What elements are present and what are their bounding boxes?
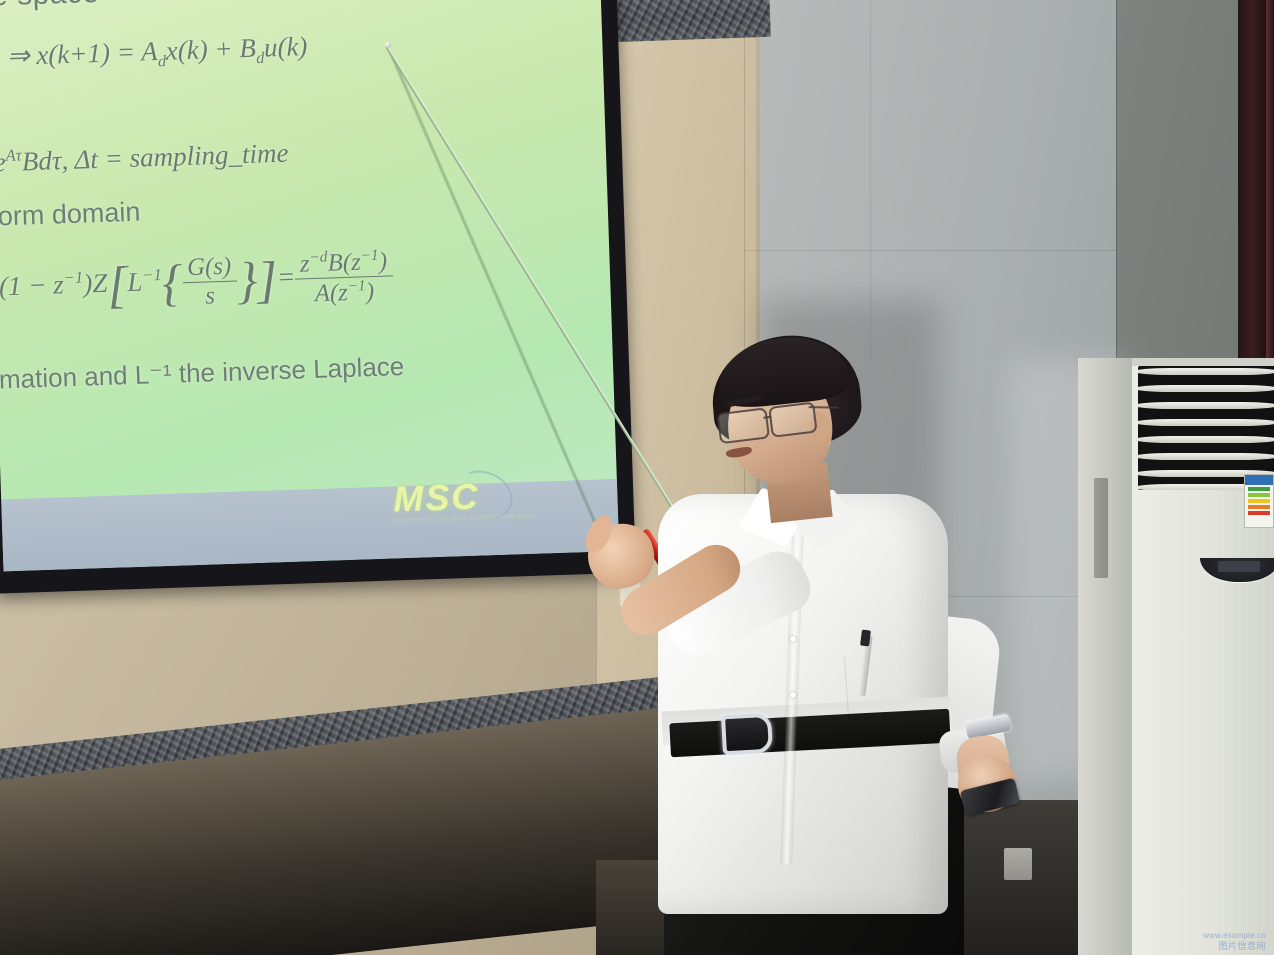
b-poly: B(z (327, 249, 361, 277)
brace-open: { (161, 255, 183, 313)
pointer-tip (385, 42, 391, 48)
a-poly: A(z (314, 279, 348, 307)
presenter (640, 336, 1090, 955)
fraction-numerator: G(s) (182, 253, 237, 284)
eq3-equals: = (277, 262, 296, 293)
shirt-button (790, 692, 796, 698)
fraction-denominator: s (183, 282, 238, 312)
ac-louver-grille (1138, 366, 1274, 490)
ac-display-screen (1218, 561, 1260, 572)
eq1-lhs: x + Bu (0, 41, 1, 73)
shirt-pocket (844, 651, 923, 719)
slide-equation-1: x + Bu ⇒ x(k+1) = Adx(k) + Bdu(k) (0, 31, 308, 79)
slide-equation-3: z−1) = (1 − z−1)Z[L−1{G(s)s}]=z−dB(z−1)A… (0, 246, 394, 321)
eq3-lhs3: )Z (83, 268, 108, 299)
z-exponent: −d (309, 249, 328, 267)
pen-cap (860, 630, 871, 647)
transfer-function-fraction: G(s)s (182, 253, 238, 312)
eq3-lhs2-sup: −1 (63, 268, 83, 288)
eq3-L: L (127, 267, 143, 297)
air-conditioner (1078, 358, 1274, 955)
watermark-chinese-text: 图片信息网 (1203, 941, 1266, 951)
projection-screen-surface: ...ate space x + Bu ⇒ x(k+1) = Adx(k) + … (0, 0, 619, 571)
eq1-arrow: ⇒ (6, 40, 30, 71)
energy-label-bar (1248, 511, 1270, 515)
b-poly-exp: −1 (360, 247, 379, 265)
eq3-lhs2: ) = (1 − z (0, 269, 64, 302)
belt-buckle (721, 713, 773, 756)
ac-louver (1138, 453, 1274, 460)
energy-label-bar (1248, 493, 1270, 497)
ac-louver (1138, 436, 1274, 443)
slide-subheading: ransform domain (0, 197, 141, 235)
energy-label-bar (1248, 499, 1270, 503)
energy-label-header (1245, 475, 1273, 485)
eq1-rhs-tail: u(k) (263, 31, 307, 62)
tile-seam-horizontal (744, 250, 1116, 251)
ac-louver (1138, 385, 1274, 392)
z-fraction-numerator: z−dB(z−1) (294, 246, 392, 279)
shirt-button (790, 636, 796, 642)
z-transfer-fraction: z−dB(z−1)A(z−1) (294, 246, 393, 309)
ac-side-vent (1094, 478, 1108, 578)
brace-close: } (236, 252, 258, 310)
watermark: www.example.cn 图片信息网 (1203, 931, 1266, 951)
msc-logo: MSC mechanical systems control laborator… (393, 474, 536, 525)
bracket-open: [ (107, 256, 129, 314)
slide-equation-2: = Δt ∫0 eAτBdτ, Δt = sampling_time (0, 128, 290, 202)
eq2-after: Bdτ, Δt = sampling_time (21, 138, 289, 177)
door-frame-edge (1266, 0, 1274, 372)
ac-louver (1138, 402, 1274, 409)
a-poly-exp: −1 (347, 278, 366, 296)
energy-label-bar (1248, 487, 1270, 491)
slide-footnote: nsformation and L⁻¹ the inverse Laplace (0, 351, 405, 397)
lecture-photo-scene: ...ate space x + Bu ⇒ x(k+1) = Adx(k) + … (0, 0, 1274, 955)
eq2-exponent: Aτ (5, 145, 22, 165)
eyeglass-lens-left (717, 407, 770, 444)
eq3-L-sup: −1 (142, 265, 162, 285)
ac-energy-label (1244, 474, 1274, 528)
ac-louver (1138, 419, 1274, 426)
ac-louver (1138, 368, 1274, 375)
bracket-close: ] (256, 251, 278, 309)
z-fraction-denominator: A(z−1) (295, 277, 393, 309)
watermark-url: www.example.cn (1203, 931, 1266, 940)
eq1-rhs-head: x(k+1) = A (36, 36, 158, 70)
b-poly-close: ) (378, 248, 387, 275)
ac-top-cover (1132, 358, 1274, 366)
a-poly-close: ) (365, 279, 374, 306)
energy-label-bar (1248, 505, 1270, 509)
eq1-rhs-mid: x(k) + B (165, 33, 256, 66)
slide-title: ...ate space (0, 0, 100, 15)
